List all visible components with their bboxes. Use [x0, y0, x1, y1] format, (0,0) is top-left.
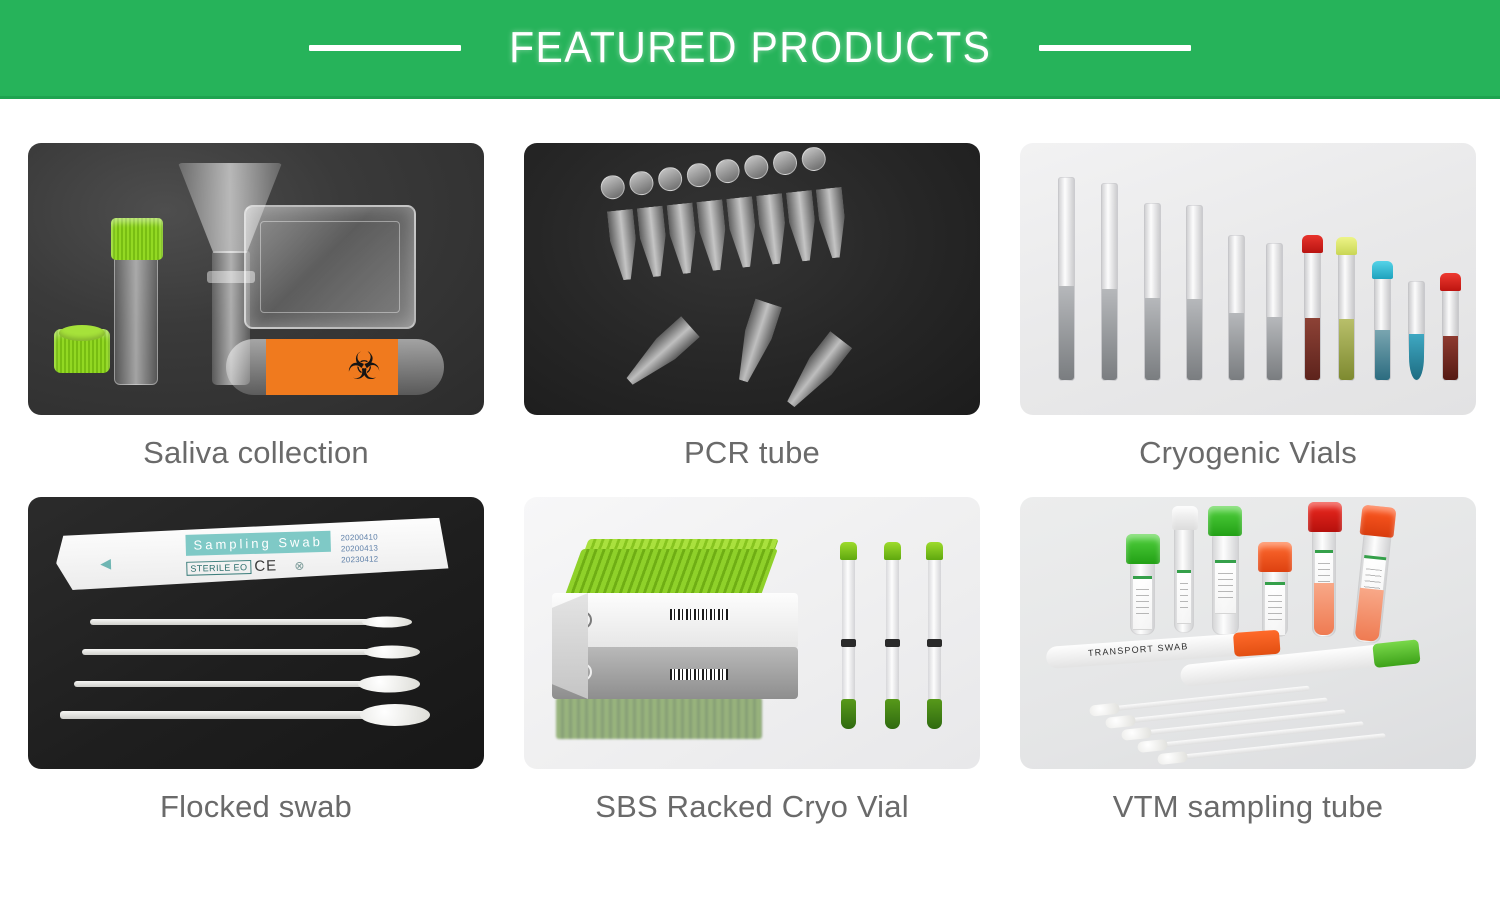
product-caption-vtm-sampling-tube: VTM sampling tube — [1020, 769, 1476, 833]
cryo-vial-7 — [1304, 247, 1321, 381]
cryo-vial-3 — [1144, 203, 1161, 381]
vial-cap — [926, 542, 943, 560]
flocked-swab-1 — [90, 619, 410, 625]
pcr-tube-loose-1 — [620, 316, 700, 392]
product-photo-sbs-racked-cryo-vial[interactable] — [524, 497, 980, 769]
vtm-tube-1 — [1130, 559, 1155, 635]
cryo-vial-2 — [1101, 183, 1118, 381]
vtm-cap-orange — [1360, 505, 1397, 538]
product-card-sbs-racked-cryo-vial[interactable]: SBS Racked Cryo Vial — [524, 497, 980, 833]
pcr-tube-loose-3 — [780, 331, 853, 413]
swab-package: ◀ Sampling Swab STERILE EO CE ⊗ 20200410… — [55, 518, 449, 591]
saliva-vial — [114, 255, 158, 385]
vtm-tube-3 — [1212, 533, 1239, 635]
cryo-vial-11 — [1442, 285, 1459, 381]
transport-swab-cap — [1372, 639, 1420, 668]
product-card-saliva-collection[interactable]: ☣ Saliva collection — [28, 143, 484, 479]
vial-bottom — [841, 699, 856, 729]
cryogenic-vial-row — [1038, 161, 1458, 381]
cryo-vial-10 — [1408, 281, 1425, 381]
product-photo-saliva-collection[interactable]: ☣ — [28, 143, 484, 415]
loose-swab-3 — [1124, 709, 1345, 737]
sbs-rack-bottom — [552, 647, 798, 699]
product-photo-pcr-tube[interactable] — [524, 143, 980, 415]
cryo-vial-1 — [1058, 177, 1075, 381]
loose-swab-4 — [1140, 721, 1363, 749]
vial-bottom — [885, 699, 900, 729]
vtm-tube-6 — [1352, 532, 1391, 644]
product-card-cryogenic-vials[interactable]: Cryogenic Vials — [1020, 143, 1476, 479]
vial-band — [927, 639, 942, 647]
product-card-pcr-tube[interactable]: PCR tube — [524, 143, 980, 479]
loose-swab-2 — [1108, 698, 1327, 726]
swab-tip — [360, 704, 430, 726]
vtm-label — [1177, 570, 1191, 624]
product-caption-flocked-swab: Flocked swab — [28, 769, 484, 833]
sterile-mark: STERILE EO — [186, 560, 251, 576]
swab-tip — [364, 646, 420, 659]
package-dates: 20200410 20200413 20230412 — [340, 531, 378, 565]
vtm-label — [1215, 560, 1236, 614]
vtm-label — [1133, 576, 1152, 630]
rack-barcode — [670, 669, 728, 680]
product-grid: ☣ Saliva collection PCR tube — [0, 99, 1500, 833]
vial-bottom — [927, 699, 942, 729]
transport-swab-cap — [1233, 630, 1281, 657]
vtm-tube-2 — [1174, 525, 1194, 633]
cryo-vial-loose-3 — [928, 555, 941, 727]
cryo-vial-loose-2 — [886, 555, 899, 727]
cryo-vial-4 — [1186, 205, 1203, 381]
pcr-tube-loose-2 — [730, 299, 782, 386]
product-card-vtm-sampling-tube[interactable]: TRANSPORT SWAB VTM sampling tube — [1020, 497, 1476, 833]
rack-barcode — [670, 609, 730, 620]
green-cap-loose — [54, 329, 110, 373]
cryo-vial-8 — [1338, 249, 1355, 381]
vtm-cap-clear — [1172, 506, 1198, 530]
vtm-cap-green — [1126, 534, 1160, 564]
cryo-vial-6 — [1266, 243, 1283, 381]
vial-cap — [884, 542, 901, 560]
product-photo-cryogenic-vials[interactable] — [1020, 143, 1476, 415]
loose-swab-1 — [1092, 686, 1309, 714]
product-caption-cryogenic-vials: Cryogenic Vials — [1020, 415, 1476, 479]
sbs-rack-top — [552, 593, 798, 649]
vial-cap — [840, 542, 857, 560]
biohazard-tube: ☣ — [226, 339, 444, 395]
product-caption-pcr-tube: PCR tube — [524, 415, 980, 479]
single-use-icon: ⊗ — [294, 559, 304, 573]
biohazard-label: ☣ — [266, 339, 398, 395]
vtm-tube-4 — [1262, 567, 1288, 637]
vtm-tube-5 — [1312, 527, 1336, 637]
vial-band — [841, 639, 856, 647]
product-photo-flocked-swab[interactable]: ◀ Sampling Swab STERILE EO CE ⊗ 20200410… — [28, 497, 484, 769]
swab-package-label: Sampling Swab — [185, 531, 331, 556]
flocked-swab-4 — [60, 711, 428, 719]
ce-mark: CE — [254, 557, 277, 575]
product-caption-sbs-racked-cryo-vial: SBS Racked Cryo Vial — [524, 769, 980, 833]
product-caption-saliva-collection: Saliva collection — [28, 415, 484, 479]
cryo-vial-9 — [1374, 273, 1391, 381]
banner-left-rule — [309, 45, 461, 51]
vtm-cap-red — [1308, 502, 1342, 532]
blister-pack — [244, 205, 416, 329]
rack-reflection — [556, 697, 762, 739]
banner-right-rule — [1039, 45, 1191, 51]
vtm-label — [1265, 582, 1285, 636]
product-photo-vtm-sampling-tube[interactable]: TRANSPORT SWAB — [1020, 497, 1476, 769]
tear-arrow-icon: ◀ — [100, 555, 111, 572]
vtm-medium — [1355, 588, 1384, 642]
flocked-swab-2 — [82, 649, 418, 655]
vial-band — [885, 639, 900, 647]
page-title: FEATURED PRODUCTS — [509, 23, 991, 73]
transport-swab-text: TRANSPORT SWAB — [1088, 641, 1189, 658]
vtm-medium — [1314, 583, 1334, 635]
pcr-tube-strip — [607, 187, 849, 283]
flocked-swab-3 — [74, 681, 418, 687]
cryo-vial-loose-1 — [842, 555, 855, 727]
loose-swab-5 — [1160, 733, 1385, 762]
vtm-cap-orange — [1258, 542, 1292, 572]
biohazard-icon: ☣ — [344, 347, 384, 387]
swab-tip — [358, 676, 420, 693]
sbs-rack-side — [552, 593, 588, 699]
vtm-cap-green — [1208, 506, 1242, 536]
cryo-vial-5 — [1228, 235, 1245, 381]
swab-tip — [362, 617, 412, 628]
featured-products-banner: FEATURED PRODUCTS — [0, 0, 1500, 99]
product-card-flocked-swab[interactable]: ◀ Sampling Swab STERILE EO CE ⊗ 20200410… — [28, 497, 484, 833]
